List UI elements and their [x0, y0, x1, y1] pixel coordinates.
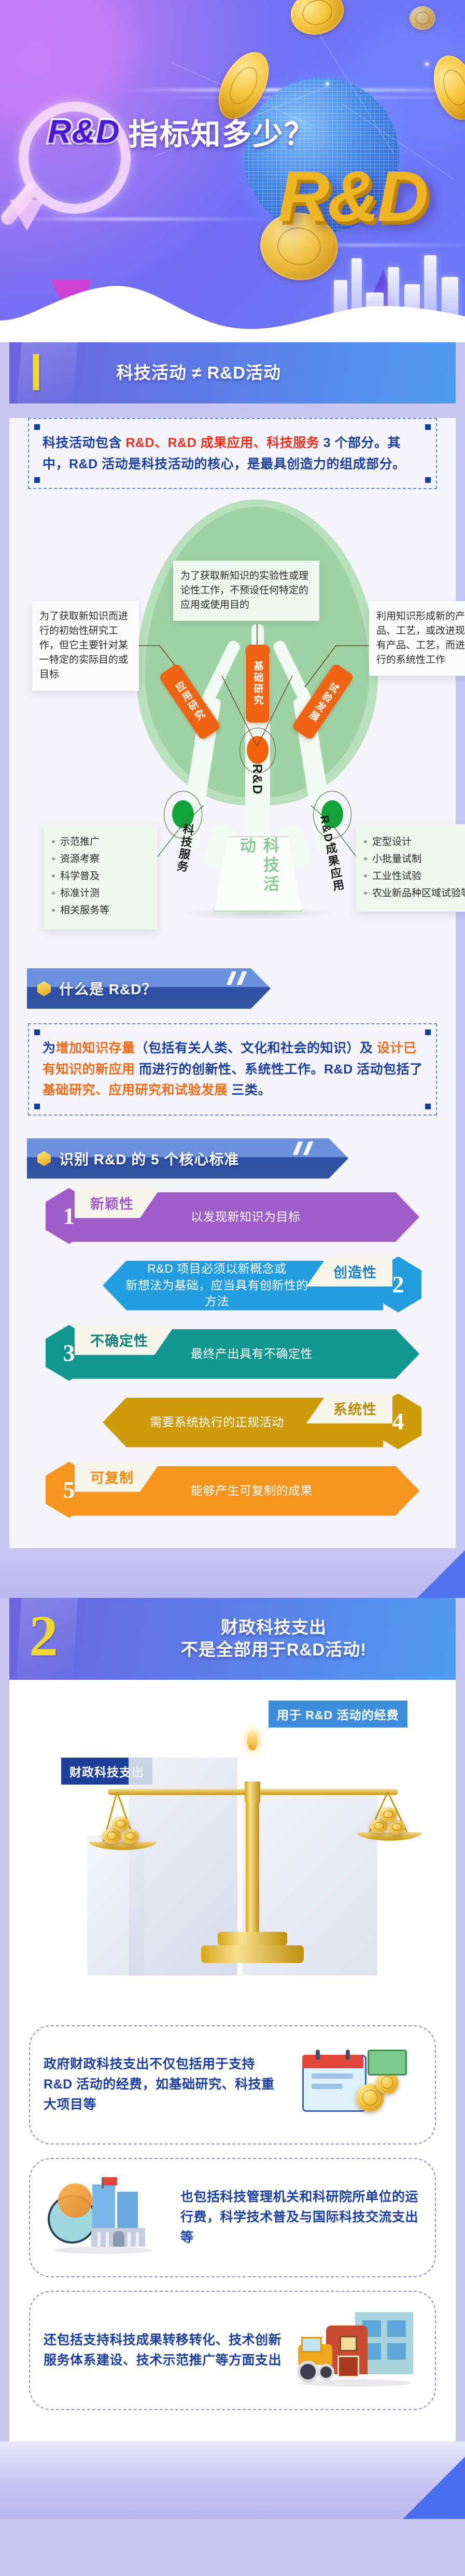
what-is-rd-header: 什么是 R&D？	[27, 968, 271, 1009]
section-1-title-text: 科技活动 ≠ R&D活动	[116, 362, 281, 384]
flag-icon	[104, 2177, 117, 2185]
criterion-desc: 以发现新知识为目标	[191, 1192, 393, 1242]
calendar-line	[312, 2073, 353, 2079]
tech-service-list: 示范推广 资源考察 科学普及 标准计测 相关服务等	[51, 835, 150, 918]
globe-icon	[58, 2183, 92, 2218]
criterion-desc: R&D 项目必须以新概念或 新想法为基础，应当具有创新性的方法	[123, 1257, 311, 1315]
wir-part-1: 增加知识存量	[56, 1041, 135, 1055]
section-2-body: 用于 R&D 活动的经费 财政科技支出	[9, 1680, 456, 2441]
calendar-ring	[346, 2050, 350, 2060]
tractor-wheel	[318, 2364, 334, 2380]
list-item: 工业性试验	[363, 869, 465, 884]
ground-shadow	[299, 2379, 411, 2387]
criterion-row-4: 4 系统性 需要系统执行的正规活动	[25, 1394, 440, 1455]
section-1-title: 科技活动 ≠ R&D活动	[116, 342, 281, 403]
list-item: 资源考察	[51, 852, 150, 867]
corner-marker	[34, 424, 40, 430]
chip-basic-research: 基础研究	[246, 645, 270, 722]
intro-part-0: 科技活动包含	[43, 436, 125, 450]
list-item: 农业新品种区域试验等	[363, 886, 465, 901]
section-1-number-plate	[17, 342, 78, 403]
hero-wave-divider	[0, 276, 465, 342]
expenditure-card-1: 政府财政科技支出不仅包括用于支持 R&D 活动的经费，如基础研究、科技重大项目等	[29, 2025, 436, 2145]
list-item: 相关服务等	[51, 903, 150, 918]
intro-paragraph: 科技活动包含 R&D、R&D 成果应用、科技服务 3 个部分。其中，R&D 活动…	[43, 433, 424, 475]
hero-banner: R&D 指标知多少？ R&D	[0, 0, 465, 342]
entrance	[113, 2231, 124, 2247]
card-rd-application-list: 定型设计 小批量试制 工业性试验 农业新品种区域试验等	[356, 824, 465, 912]
wir-part-0: 为	[43, 1041, 56, 1055]
column	[97, 2232, 101, 2247]
hero-big-rd: R&D	[278, 156, 427, 238]
criterion-row-3: 3 不确定性 最终产出具有不确定性	[25, 1325, 440, 1386]
label-rd: R&D	[249, 764, 264, 795]
ground-shadow	[54, 2247, 152, 2254]
factory-tractor-icon	[294, 2307, 421, 2394]
expenditure-card-3-text: 还包括支持科技成果转移转化、技术创新服务体系建设、技术示范推广等方面支出	[44, 2330, 285, 2371]
what-is-rd-box: 为增加知识存量（包括有关人类、文化和社会的知识）及 设计已有知识的新应用 而进行…	[28, 1023, 437, 1116]
decorative-triangle	[417, 1550, 465, 1598]
corner-marker	[34, 1029, 40, 1035]
section-gap	[0, 1548, 465, 1598]
wir-part-2: （包括有关人类、文化和社会的知识）及	[135, 1041, 377, 1055]
corner-marker	[425, 1029, 431, 1035]
list-item: 小批量试制	[363, 852, 465, 867]
barn-door	[337, 2356, 359, 2377]
what-is-rd-paragraph: 为增加知识存量（包括有关人类、文化和社会的知识）及 设计已有知识的新应用 而进行…	[43, 1038, 424, 1101]
section-1-header: Ⅰ 科技活动 ≠ R&D活动	[9, 342, 456, 403]
section-2: 2 财政科技支出 不是全部用于R&D活动! 用于 R&D 活动的经费 财政科技支…	[0, 1598, 465, 2441]
barn-window	[340, 2336, 357, 2351]
column	[136, 2232, 139, 2247]
list-item: 定型设计	[363, 835, 465, 850]
list-item: 科学普及	[51, 869, 150, 884]
criterion-desc: 能够产生可复制的成果	[191, 1466, 393, 1516]
rd-application-list: 定型设计 小批量试制 工业性试验 农业新品种区域试验等	[363, 835, 465, 901]
window	[387, 2343, 406, 2360]
column	[106, 2232, 109, 2247]
criterion-row-5: 5 可复制 能够产生可复制的成果	[25, 1462, 440, 1523]
expenditure-card-2-text: 也包括科技管理机关和科研院所单位的运行费，科学技术普及与国际科技交流支出等	[180, 2187, 421, 2247]
calendar-line	[312, 2084, 343, 2089]
list-item: 标准计测	[51, 886, 150, 901]
criterion-desc: 需要系统执行的正规活动	[123, 1398, 311, 1447]
calendar-header	[302, 2055, 363, 2068]
column	[128, 2232, 131, 2247]
what-is-rd-heading: 什么是 R&D？	[59, 968, 157, 1009]
coin-icon	[112, 1817, 130, 1831]
tractor-cab	[301, 2337, 322, 2352]
section-2-header: 2 财政科技支出 不是全部用于R&D活动!	[9, 1598, 456, 1680]
corner-marker	[425, 424, 431, 430]
section-2-title-line2: 不是全部用于R&D活动!	[181, 1639, 367, 1661]
corner-marker	[425, 477, 431, 483]
infographic-page: R&D 指标知多少？ R&D Ⅰ 科技活动 ≠ R&D活动	[0, 0, 465, 2576]
expenditure-card-2: 也包括科技管理机关和科研院所单位的运行费，科学技术普及与国际科技交流支出等	[29, 2158, 436, 2277]
coin-icon	[410, 6, 435, 30]
section-2-number: 2	[29, 1607, 58, 1665]
network-node	[425, 62, 429, 66]
wir-part-4: 而进行的创新性、系统性工作。R&D 活动包括了	[135, 1062, 423, 1077]
intro-quote-box: 科技活动包含 R&D、R&D 成果应用、科技服务 3 个部分。其中，R&D 活动…	[28, 418, 437, 489]
card-applied-research-desc: 为了获取新知识而进行的初始性研究工作，但它主要针对某一特定的实际目的或目标	[32, 601, 139, 691]
coin-icon	[121, 1829, 139, 1844]
government-building-icon	[44, 2174, 171, 2261]
page-title: R&D 指标知多少？	[48, 110, 431, 154]
criteria-list: 1 新颖性 以发现新知识为目标 2 创造性 R&D 项目必须以新概念或 新想法为…	[25, 1188, 440, 1523]
expenditure-card-3: 还包括支持科技成果转移转化、技术创新服务体系建设、技术示范推广等方面支出	[29, 2291, 436, 2410]
criteria-heading: 识别 R&D 的 5 个核心标准	[59, 1138, 239, 1179]
window	[387, 2320, 406, 2337]
wir-part-5: 基础研究、应用研究和试验发展	[43, 1083, 228, 1097]
expenditure-card-1-text: 政府财政科技支出不仅包括用于支持 R&D 活动的经费，如基础研究、科技重大项目等	[44, 2054, 285, 2114]
intro-part-1: R&D、R&D 成果应用、科技服务	[125, 436, 319, 450]
section-1-number: Ⅰ	[29, 350, 43, 397]
card-tech-service-list: 示范推广 资源考察 科学普及 标准计测 相关服务等	[44, 824, 158, 929]
criteria-header: 识别 R&D 的 5 个核心标准	[27, 1138, 348, 1179]
section-2-title: 财政科技支出 不是全部用于R&D活动!	[92, 1598, 455, 1680]
corner-marker	[34, 477, 40, 483]
card-basic-research-desc: 为了获取新知识的实验性或理论性工作，不预设任何特定的应用或使用目的	[173, 561, 319, 621]
section-1-body: 科技活动包含 R&D、R&D 成果应用、科技服务 3 个部分。其中，R&D 活动…	[9, 418, 456, 1548]
corner-marker	[34, 1104, 40, 1109]
page-footer	[0, 2441, 465, 2519]
coin-icon	[388, 1820, 405, 1834]
scale-hangers	[25, 1680, 440, 2012]
section-1: Ⅰ 科技活动 ≠ R&D活动 科技活动包含 R&D、R&D 成果应用、科技服务 …	[0, 342, 465, 1548]
decorative-triangle	[9, 200, 45, 231]
network-node	[326, 82, 329, 86]
hero-rd-badge: R&D	[48, 113, 120, 150]
criterion-desc: 最终产出具有不确定性	[191, 1329, 393, 1379]
tree-diagram: 应用研究 基础研究 试验发展 R&D 科技服务 R&D成果应用 为了获取新知识而…	[25, 494, 440, 951]
coin-icon	[379, 1807, 397, 1822]
wir-part-6: 三类。	[228, 1083, 271, 1097]
coin-icon	[426, 50, 465, 125]
calendar-ring	[316, 2050, 320, 2060]
criterion-row-2: 2 创造性 R&D 项目必须以新概念或 新想法为基础，应当具有创新性的方法	[25, 1257, 440, 1318]
banknote	[368, 2050, 407, 2076]
tractor-wheel	[297, 2361, 319, 2383]
list-item: 示范推广	[51, 835, 150, 850]
calendar-money-icon	[294, 2041, 421, 2128]
decorative-triangle	[403, 2457, 465, 2519]
criterion-row-1: 1 新颖性 以发现新知识为目标	[25, 1188, 440, 1249]
coin-icon	[285, 0, 349, 41]
corner-marker	[425, 1104, 431, 1109]
balance-scale-illustration: 用于 R&D 活动的经费 财政科技支出	[25, 1680, 440, 2012]
card-experimental-development-desc: 利用知识形成新的产品、工艺，或改进现有产品、工艺，而进行的系统性工作	[369, 601, 465, 676]
section-2-title-line1: 财政科技支出	[221, 1617, 327, 1638]
hero-title-cn: 指标知多少？	[129, 110, 315, 154]
